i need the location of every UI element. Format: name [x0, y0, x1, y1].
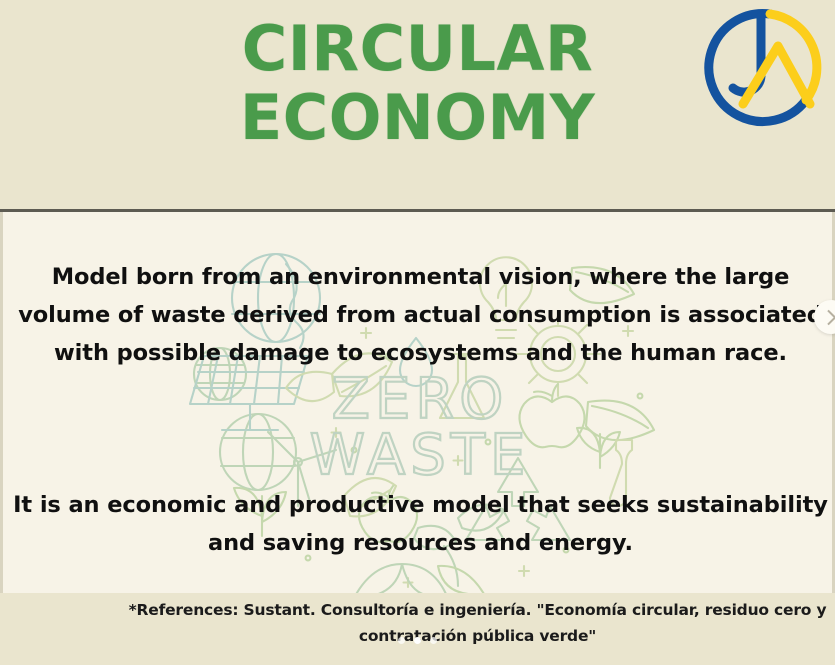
- paragraph-2: It is an economic and productive model t…: [6, 486, 835, 562]
- paragraph-spacer-1: [6, 410, 835, 448]
- carousel-slide: CIRCULAR ECONOMY: [0, 0, 835, 665]
- carousel-pagination: [0, 637, 835, 644]
- carousel-dot-1[interactable]: [398, 637, 405, 644]
- slide-body: ZERO WASTE Model born from an environmen…: [0, 212, 835, 593]
- carousel-dot-3[interactable]: [430, 637, 437, 644]
- chevron-right-icon: [820, 309, 835, 325]
- slide-header: CIRCULAR ECONOMY: [0, 0, 835, 212]
- carousel-dot-2[interactable]: [414, 637, 421, 644]
- paragraph-1: Model born from an environmental vision,…: [6, 258, 835, 372]
- slide-footer: *References: Sustant. Consultoría e inge…: [0, 593, 835, 665]
- ja-monogram-logo: [698, 4, 826, 132]
- body-copy: Model born from an environmental vision,…: [6, 220, 835, 593]
